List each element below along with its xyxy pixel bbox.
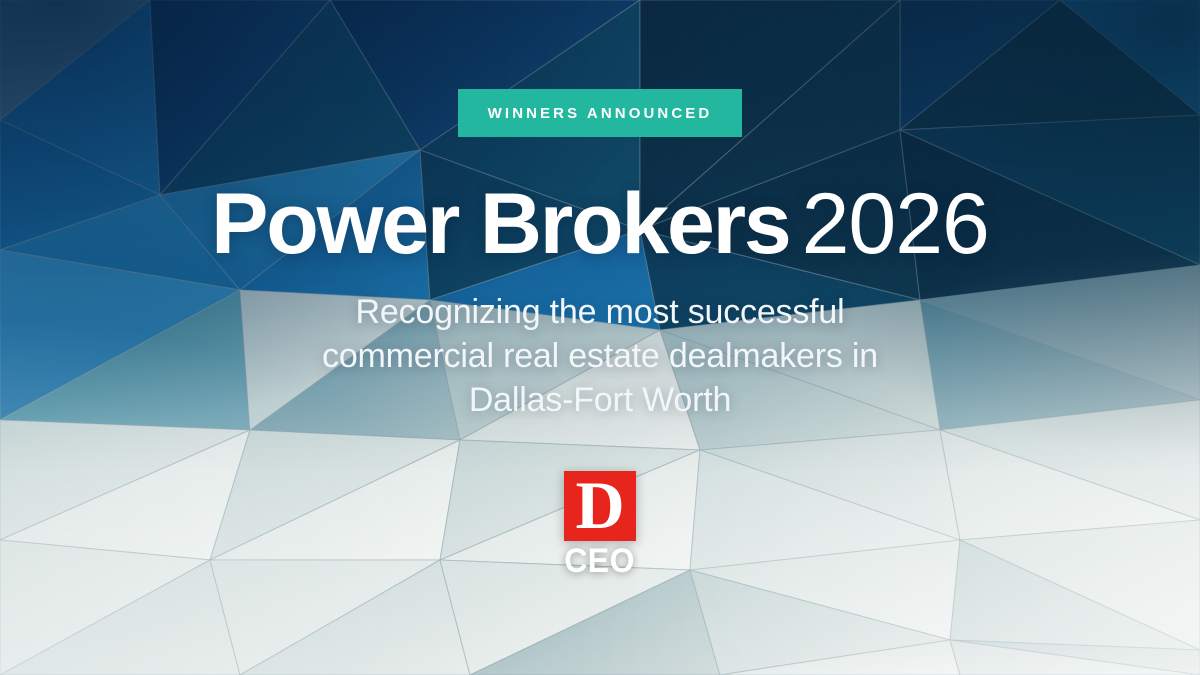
logo-mark-letter: D — [575, 471, 624, 539]
d-magazine-logo-mark: D — [564, 471, 636, 541]
logo-wordmark: CEO — [565, 544, 636, 578]
page-subtitle-line-3: Dallas-Fort Worth — [322, 378, 878, 422]
page-title-year: 2026 — [802, 176, 989, 272]
promo-banner: WINNERS ANNOUNCED Power Brokers2026 Reco… — [0, 0, 1200, 675]
page-title-primary: Power Brokers — [211, 176, 789, 272]
status-badge: WINNERS ANNOUNCED — [458, 89, 743, 137]
page-subtitle: Recognizing the most successful commerci… — [322, 290, 878, 422]
promo-content: WINNERS ANNOUNCED Power Brokers2026 Reco… — [0, 0, 1200, 675]
page-subtitle-line-1: Recognizing the most successful — [322, 290, 878, 334]
brand-logo: D CEO — [562, 471, 637, 578]
page-subtitle-line-2: commercial real estate dealmakers in — [322, 334, 878, 378]
page-title: Power Brokers2026 — [211, 181, 989, 267]
